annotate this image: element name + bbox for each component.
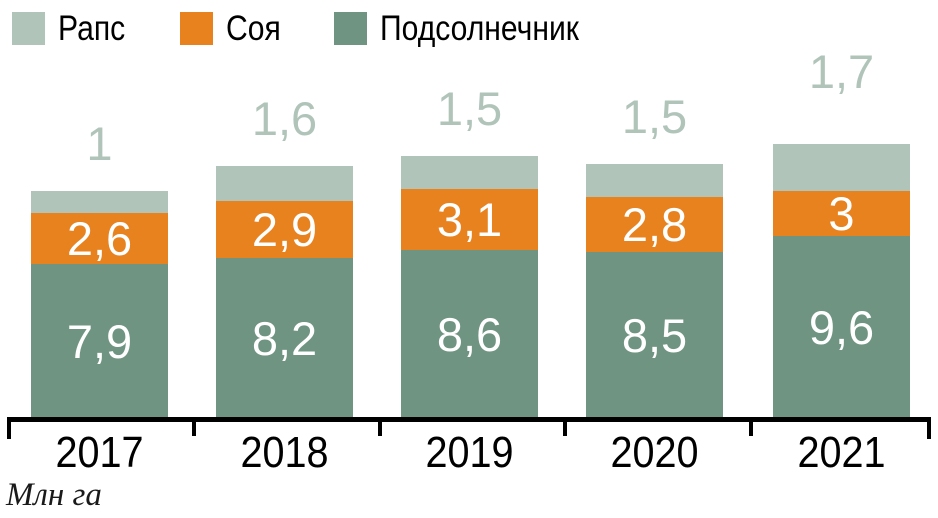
bar-segment-value-soy-2020: 2,8: [622, 201, 687, 248]
bar-segment-sunflower-2018: 8,2: [216, 258, 353, 418]
bar-segment-value-sunflower-2020: 8,5: [622, 312, 687, 359]
bar-segment-value-sunflower-2017: 7,9: [67, 318, 132, 365]
bar-segment-soy-2018: 2,9: [216, 201, 353, 258]
bar-label-rapeseed-2021: 1,7: [773, 48, 910, 95]
bar-label-rapeseed-2017: 1: [31, 120, 168, 167]
bar-segment-value-soy-2018: 2,9: [252, 206, 317, 253]
axis-label-2017: 2017: [38, 430, 161, 476]
bar-group-2019: 1,5 1,5 3,1 8,6: [401, 0, 538, 418]
bar-segment-sunflower-2019: 8,6: [401, 250, 538, 418]
axis-label-2019: 2019: [408, 430, 531, 476]
stacked-bar-chart: Рапс Соя Подсолнечник 1 1 2,6 7,9: [0, 0, 938, 518]
bar-segment-rapeseed-2017: 1: [31, 191, 168, 213]
bar-segment-value-sunflower-2018: 8,2: [252, 315, 317, 362]
bar-segment-soy-2019: 3,1: [401, 189, 538, 250]
bar-segment-rapeseed-2020: 1,5: [586, 164, 723, 197]
bar-stack-2019: 1,5 3,1 8,6: [401, 156, 538, 418]
x-axis-tick-labels: 2017 2018 2019 2020 2021: [0, 430, 938, 480]
bar-segment-value-sunflower-2019: 8,6: [437, 311, 502, 358]
bar-stack-2020: 1,5 2,8 8,5: [586, 164, 723, 418]
bar-segment-rapeseed-2021: 1,7: [773, 144, 910, 191]
bar-label-rapeseed-2020: 1,5: [586, 93, 723, 140]
bar-group-2020: 1,5 1,5 2,8 8,5: [586, 0, 723, 418]
bar-segment-sunflower-2017: 7,9: [31, 264, 168, 418]
axis-label-2018: 2018: [223, 430, 346, 476]
bar-label-rapeseed-2019: 1,5: [401, 85, 538, 132]
bar-segment-sunflower-2020: 8,5: [586, 252, 723, 418]
bar-segment-soy-2020: 2,8: [586, 197, 723, 252]
bar-segment-value-soy-2021: 3: [828, 190, 854, 237]
bar-segment-soy-2017: 2,6: [31, 213, 168, 264]
bar-stack-2017: 1 2,6 7,9: [31, 191, 168, 418]
bar-segment-soy-2021: 3: [773, 191, 910, 236]
bar-stack-2021: 1,7 3 9,6: [773, 144, 910, 418]
bar-group-2017: 1 1 2,6 7,9: [31, 0, 168, 418]
bar-segment-rapeseed-2019: 1,5: [401, 156, 538, 189]
bar-segment-value-soy-2019: 3,1: [437, 196, 502, 243]
bar-segment-rapeseed-2018: 1,6: [216, 166, 353, 201]
bar-stack-2018: 1,6 2,9 8,2: [216, 166, 353, 418]
bar-group-2021: 1,7 1,7 3 9,6: [773, 0, 910, 418]
bar-label-rapeseed-2018: 1,6: [216, 95, 353, 142]
chart-unit-caption: Млн га: [6, 478, 102, 512]
plot-area: 1 1 2,6 7,9 1,6 1,6 2,9: [0, 0, 938, 418]
axis-label-2021: 2021: [780, 430, 903, 476]
axis-label-2020: 2020: [593, 430, 716, 476]
bar-segment-value-soy-2017: 2,6: [67, 215, 132, 262]
bar-segment-sunflower-2021: 9,6: [773, 236, 910, 418]
bar-group-2018: 1,6 1,6 2,9 8,2: [216, 0, 353, 418]
x-axis-line: [7, 417, 931, 422]
bar-segment-value-sunflower-2021: 9,6: [809, 304, 874, 351]
